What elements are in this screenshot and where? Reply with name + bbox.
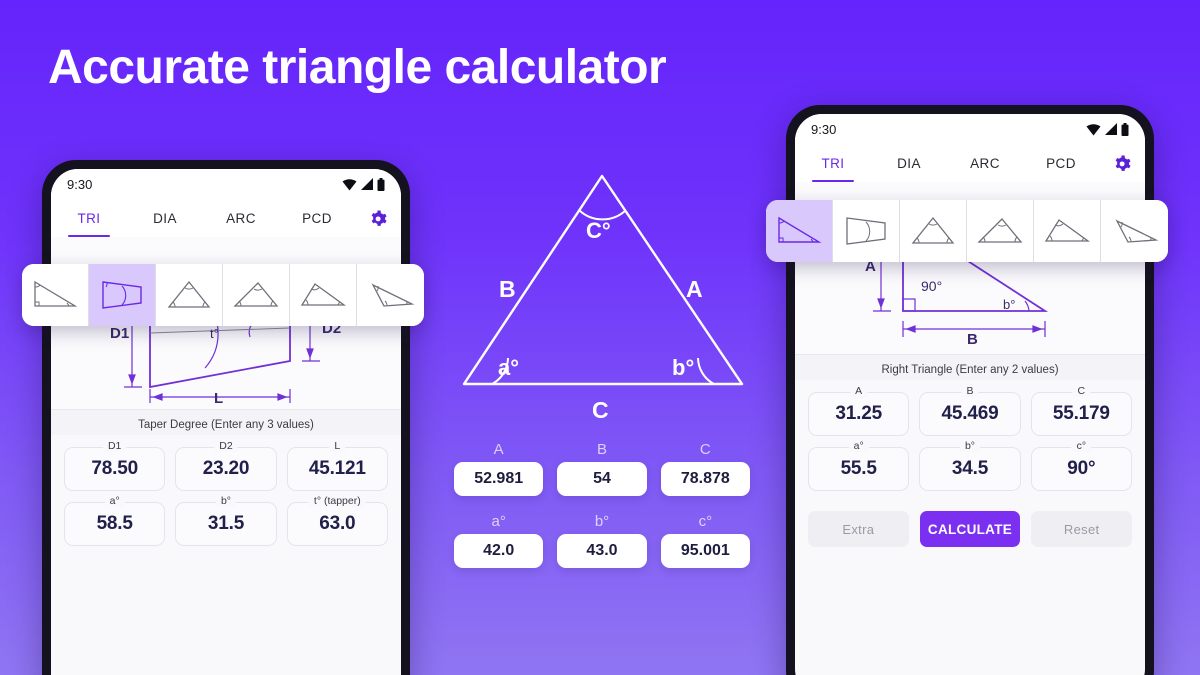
taper-trapezoid-shape-icon bbox=[840, 214, 892, 248]
acute-triangle-shape-icon bbox=[974, 214, 1026, 248]
field-a-angle-label: a° bbox=[105, 495, 125, 507]
hero-label-C-side: C bbox=[592, 397, 609, 423]
shape-option-scalene[interactable] bbox=[1101, 200, 1168, 262]
tab-dia[interactable]: DIA bbox=[127, 199, 203, 237]
hero-field-b-angle-value: 43.0 bbox=[557, 534, 646, 568]
field-l-value: 45.121 bbox=[309, 458, 366, 480]
scalene-triangle-shape-icon bbox=[365, 278, 417, 312]
hero-field-c-angle-label: c° bbox=[661, 513, 750, 530]
hero-field-a-angle-value: 42.0 bbox=[454, 534, 543, 568]
shape-option-isoceles[interactable] bbox=[156, 264, 223, 326]
label-90-angle: 90° bbox=[921, 278, 942, 294]
field-a-angle-right-value: 55.5 bbox=[841, 458, 877, 480]
shape-option-obtuse[interactable] bbox=[290, 264, 357, 326]
phone-screen-right: 9:30 TRI DIA ARC PCD bbox=[795, 114, 1145, 675]
hero-label-C-angle: C° bbox=[586, 218, 611, 243]
action-button-row: Extra CALCULATE Reset bbox=[795, 501, 1145, 561]
shape-option-obtuse[interactable] bbox=[1034, 200, 1101, 262]
hero-field-b-angle-label: b° bbox=[557, 513, 646, 530]
hero-triangle-diagram: C° a° b° B A C bbox=[442, 160, 762, 425]
settings-button-right[interactable] bbox=[1099, 144, 1145, 182]
field-b-side-label: B bbox=[961, 385, 978, 397]
field-b-side[interactable]: B 45.469 bbox=[919, 392, 1020, 436]
field-d1-label: D1 bbox=[103, 440, 126, 452]
label-b-side: B bbox=[967, 331, 978, 348]
tab-bar: TRI DIA ARC PCD bbox=[51, 199, 401, 237]
hero-field-a-angle-label: a° bbox=[454, 513, 543, 530]
tab-tri[interactable]: TRI bbox=[51, 199, 127, 237]
tab-arc[interactable]: ARC bbox=[203, 199, 279, 237]
field-c-angle-right-label: c° bbox=[1072, 440, 1091, 452]
battery-icon bbox=[1121, 123, 1129, 136]
status-time: 9:30 bbox=[67, 177, 92, 192]
field-c-angle-right-value: 90° bbox=[1067, 458, 1095, 480]
label-b-angle-right: b° bbox=[1003, 297, 1015, 312]
hero-field-C[interactable]: C 78.878 bbox=[661, 441, 750, 496]
tab-pcd-right[interactable]: PCD bbox=[1023, 144, 1099, 182]
hero-field-C-value: 78.878 bbox=[661, 462, 750, 496]
field-b-angle-value: 31.5 bbox=[208, 513, 244, 535]
field-l[interactable]: L 45.121 bbox=[287, 447, 388, 491]
field-b-angle-label: b° bbox=[216, 495, 236, 507]
hero-label-A-side: A bbox=[686, 276, 703, 302]
field-c-side[interactable]: C 55.179 bbox=[1031, 392, 1132, 436]
tab-bar-right: TRI DIA ARC PCD bbox=[795, 144, 1145, 182]
field-d1-value: 78.50 bbox=[91, 458, 138, 480]
label-l: L bbox=[214, 390, 223, 404]
status-bar: 9:30 bbox=[51, 169, 401, 199]
status-icons bbox=[342, 178, 385, 191]
settings-button[interactable] bbox=[355, 199, 401, 237]
shape-option-right-triangle[interactable] bbox=[22, 264, 89, 326]
wifi-icon bbox=[1086, 123, 1101, 136]
battery-icon bbox=[377, 178, 385, 191]
hero-field-c-angle[interactable]: c° 95.001 bbox=[661, 513, 750, 568]
field-d1[interactable]: D1 78.50 bbox=[64, 447, 165, 491]
status-icons-right bbox=[1086, 123, 1129, 136]
right-triangle-shape-icon bbox=[29, 278, 81, 312]
shape-option-scalene[interactable] bbox=[357, 264, 424, 326]
hero-field-B-value: 54 bbox=[557, 462, 646, 496]
shape-option-acute[interactable] bbox=[967, 200, 1034, 262]
obtuse-triangle-shape-icon bbox=[1041, 214, 1093, 248]
status-time-right: 9:30 bbox=[811, 122, 836, 137]
hero-field-B-label: B bbox=[557, 441, 646, 458]
shape-option-acute[interactable] bbox=[223, 264, 290, 326]
scalene-triangle-shape-icon bbox=[1109, 214, 1161, 248]
shape-selector-right[interactable] bbox=[766, 200, 1168, 262]
shape-option-right-triangle-selected[interactable] bbox=[766, 200, 833, 262]
hero-field-A[interactable]: A 52.981 bbox=[454, 441, 543, 496]
hero-field-A-value: 52.981 bbox=[454, 462, 543, 496]
reset-button[interactable]: Reset bbox=[1031, 511, 1132, 547]
field-b-angle[interactable]: b° 31.5 bbox=[175, 502, 276, 546]
right-triangle-caption: Right Triangle (Enter any 2 values) bbox=[795, 354, 1145, 380]
hero-field-A-label: A bbox=[454, 441, 543, 458]
shape-option-taper[interactable] bbox=[833, 200, 900, 262]
wifi-icon bbox=[342, 178, 357, 191]
shape-selector-left[interactable] bbox=[22, 264, 424, 326]
field-l-label: L bbox=[329, 440, 345, 452]
signal-icon bbox=[1104, 123, 1118, 136]
field-a-side-label: A bbox=[850, 385, 867, 397]
taper-caption: Taper Degree (Enter any 3 values) bbox=[51, 409, 401, 435]
field-c-side-value: 55.179 bbox=[1053, 403, 1110, 425]
label-d1: D1 bbox=[110, 325, 129, 342]
hero-label-a-angle: a° bbox=[498, 355, 519, 380]
right-triangle-field-grid: A 31.25 B 45.469 C 55.179 a° 55.5 b° 34.… bbox=[795, 380, 1145, 501]
hero-field-b-angle[interactable]: b° 43.0 bbox=[557, 513, 646, 568]
shape-option-taper[interactable] bbox=[89, 264, 156, 326]
taper-field-grid: D1 78.50 D2 23.20 L 45.121 a° 58.5 b° 31… bbox=[51, 435, 401, 556]
field-b-angle-right-label: b° bbox=[960, 440, 980, 452]
field-d2-value: 23.20 bbox=[203, 458, 250, 480]
field-a-angle-right-label: a° bbox=[849, 440, 869, 452]
field-b-side-value: 45.469 bbox=[942, 403, 999, 425]
tab-dia-right[interactable]: DIA bbox=[871, 144, 947, 182]
hero-label-b-angle: b° bbox=[672, 355, 694, 380]
hero-section: C° a° b° B A C A 52.981 B 54 C 78.878 a°… bbox=[432, 160, 772, 568]
field-b-angle-right-value: 34.5 bbox=[952, 458, 988, 480]
calculate-button[interactable]: CALCULATE bbox=[920, 511, 1021, 547]
phone-mockup-left: 9:30 TRI DIA ARC PCD bbox=[42, 160, 410, 675]
field-t-angle-label: t° (tapper) bbox=[309, 495, 366, 507]
field-c-side-label: C bbox=[1073, 385, 1091, 397]
obtuse-triangle-shape-icon bbox=[297, 278, 349, 312]
field-t-angle-value: 63.0 bbox=[319, 513, 355, 535]
taper-trapezoid-shape-icon bbox=[96, 278, 148, 312]
phone-mockup-right: 9:30 TRI DIA ARC PCD bbox=[786, 105, 1154, 675]
hero-label-B-side: B bbox=[499, 276, 516, 302]
hero-field-C-label: C bbox=[661, 441, 750, 458]
hero-field-B[interactable]: B 54 bbox=[557, 441, 646, 496]
signal-icon bbox=[360, 178, 374, 191]
field-d2-label: D2 bbox=[214, 440, 237, 452]
tab-arc-right[interactable]: ARC bbox=[947, 144, 1023, 182]
gear-icon bbox=[369, 209, 388, 228]
isoceles-triangle-shape-icon bbox=[163, 278, 215, 312]
field-a-side-value: 31.25 bbox=[835, 403, 882, 425]
field-b-angle-right[interactable]: b° 34.5 bbox=[919, 447, 1020, 491]
label-t-angle: t° bbox=[210, 326, 219, 341]
acute-triangle-shape-icon bbox=[230, 278, 282, 312]
right-triangle-shape-icon bbox=[773, 214, 825, 248]
field-a-angle-value: 58.5 bbox=[97, 513, 133, 535]
tab-tri-right[interactable]: TRI bbox=[795, 144, 871, 182]
hero-field-a-angle[interactable]: a° 42.0 bbox=[454, 513, 543, 568]
field-c-angle-right[interactable]: c° 90° bbox=[1031, 447, 1132, 491]
hero-field-c-angle-value: 95.001 bbox=[661, 534, 750, 568]
field-a-angle-right[interactable]: a° 55.5 bbox=[808, 447, 909, 491]
hero-fields-row2: a° 42.0 b° 43.0 c° 95.001 bbox=[432, 513, 772, 568]
tab-pcd[interactable]: PCD bbox=[279, 199, 355, 237]
field-a-angle[interactable]: a° 58.5 bbox=[64, 502, 165, 546]
shape-option-isoceles[interactable] bbox=[900, 200, 967, 262]
isoceles-triangle-shape-icon bbox=[907, 214, 959, 248]
phone-screen-left: 9:30 TRI DIA ARC PCD bbox=[51, 169, 401, 675]
gear-icon bbox=[1113, 154, 1132, 173]
extra-button[interactable]: Extra bbox=[808, 511, 909, 547]
status-bar-right: 9:30 bbox=[795, 114, 1145, 144]
field-a-side[interactable]: A 31.25 bbox=[808, 392, 909, 436]
field-t-angle[interactable]: t° (tapper) 63.0 bbox=[287, 502, 388, 546]
page-title: Accurate triangle calculator bbox=[48, 40, 666, 95]
field-d2[interactable]: D2 23.20 bbox=[175, 447, 276, 491]
hero-fields-row1: A 52.981 B 54 C 78.878 bbox=[432, 441, 772, 496]
